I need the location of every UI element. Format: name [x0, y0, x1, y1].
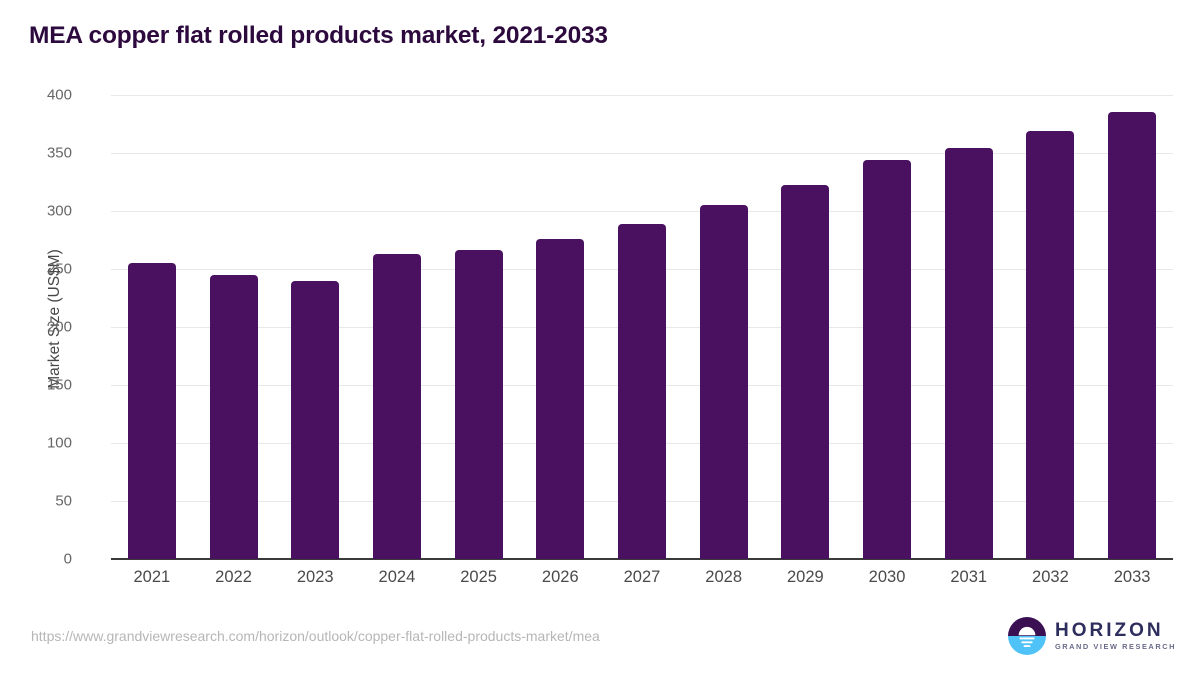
chart-page: MEA copper flat rolled products market, …: [0, 0, 1200, 675]
bar[interactable]: [781, 185, 829, 559]
x-tick-label: 2021: [111, 568, 193, 587]
x-tick-label: 2027: [601, 568, 683, 587]
bar-slot: [765, 95, 847, 559]
logo-tagline: GRAND VIEW RESEARCH: [1055, 643, 1176, 650]
bar[interactable]: [455, 250, 503, 559]
y-tick-label: 300: [12, 203, 72, 220]
horizon-logo[interactable]: HORIZON GRAND VIEW RESEARCH: [1008, 617, 1176, 655]
x-tick-label: 2032: [1010, 568, 1092, 587]
x-tick-label: 2023: [274, 568, 356, 587]
bar-slot: [601, 95, 683, 559]
bar[interactable]: [863, 160, 911, 559]
bar-slot: [356, 95, 438, 559]
bar[interactable]: [1026, 131, 1074, 559]
bar[interactable]: [128, 263, 176, 559]
x-tick-label: 2028: [683, 568, 765, 587]
gridline: [111, 559, 1173, 560]
y-tick-label: 200: [12, 319, 72, 336]
bar[interactable]: [291, 281, 339, 559]
y-tick-label: 0: [12, 551, 72, 568]
bar[interactable]: [700, 205, 748, 559]
bar-series: [111, 95, 1173, 559]
x-tick-label: 2025: [438, 568, 520, 587]
bar-slot: [111, 95, 193, 559]
bar[interactable]: [373, 254, 421, 559]
bar-slot: [1091, 95, 1173, 559]
bar-slot: [519, 95, 601, 559]
bar-slot: [193, 95, 275, 559]
chart-plot-wrapper: Market Size (US$M) 050100150200250300350…: [0, 0, 1200, 675]
x-tick-label: 2029: [765, 568, 847, 587]
bar[interactable]: [1108, 112, 1156, 559]
bar[interactable]: [618, 224, 666, 559]
logo-text-block: HORIZON GRAND VIEW RESEARCH: [1055, 621, 1176, 650]
x-tick-label: 2024: [356, 568, 438, 587]
bar-slot: [1010, 95, 1092, 559]
x-tick-label: 2030: [846, 568, 928, 587]
bar-slot: [274, 95, 356, 559]
bar-slot: [438, 95, 520, 559]
y-tick-label: 350: [12, 145, 72, 162]
bar[interactable]: [210, 275, 258, 559]
logo-name: HORIZON: [1055, 621, 1176, 640]
y-tick-label: 150: [12, 377, 72, 394]
x-tick-label: 2031: [928, 568, 1010, 587]
y-tick-label: 50: [12, 493, 72, 510]
bar-slot: [683, 95, 765, 559]
y-tick-label: 100: [12, 435, 72, 452]
x-axis-labels: 2021202220232024202520262027202820292030…: [111, 568, 1173, 587]
source-url[interactable]: https://www.grandviewresearch.com/horizo…: [31, 628, 600, 644]
horizon-sun-circle-icon: [1008, 617, 1046, 655]
x-tick-label: 2022: [193, 568, 275, 587]
y-tick-label: 400: [12, 87, 72, 104]
y-tick-label: 250: [12, 261, 72, 278]
bar-slot: [928, 95, 1010, 559]
bar-slot: [846, 95, 928, 559]
x-tick-label: 2033: [1091, 568, 1173, 587]
bar[interactable]: [945, 148, 993, 559]
bar[interactable]: [536, 239, 584, 559]
x-tick-label: 2026: [519, 568, 601, 587]
